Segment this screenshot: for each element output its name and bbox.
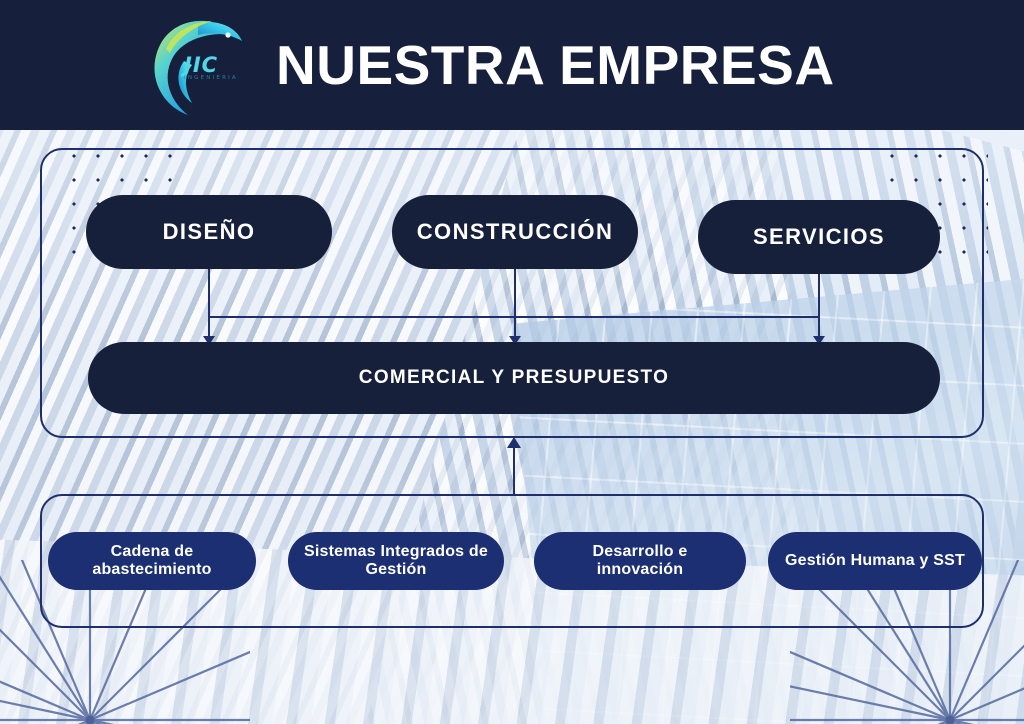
poster-canvas: DISEÑO CONSTRUCCIÓN SERVICIOS COMERCIAL …: [0, 0, 1024, 724]
connector-construccion-down: [514, 269, 516, 317]
jic-fish-logo-icon: JIC INGENIERIA: [140, 5, 260, 125]
node-gestion-humana-sst[interactable]: Gestión Humana y SST: [768, 532, 982, 590]
logo-tagline: INGENIERIA: [184, 75, 238, 81]
node-construccion-label: CONSTRUCCIÓN: [417, 219, 613, 244]
node-servicios[interactable]: SERVICIOS: [698, 200, 940, 274]
node-desarrollo-label: Desarrollo e innovación: [548, 543, 732, 580]
node-desarrollo-innovacion[interactable]: Desarrollo e innovación: [534, 532, 746, 590]
node-diseno[interactable]: DISEÑO: [86, 195, 332, 269]
node-diseno-label: DISEÑO: [163, 219, 256, 244]
connector-servicios-down: [818, 274, 820, 317]
node-construccion[interactable]: CONSTRUCCIÓN: [392, 195, 638, 269]
node-comercial-presupuesto[interactable]: COMERCIAL Y PRESUPUESTO: [88, 342, 940, 414]
page-title: NUESTRA EMPRESA: [276, 33, 835, 97]
connector-up-arrow-icon: [507, 437, 521, 448]
node-cadena-abastecimiento[interactable]: Cadena de abastecimiento: [48, 532, 256, 590]
page-header: JIC INGENIERIA NUESTRA EMPRESA: [0, 0, 1024, 130]
logo-wordmark: JIC: [184, 53, 218, 77]
node-sistemas-integrados[interactable]: Sistemas Integrados de Gestión: [288, 532, 504, 590]
node-cadena-label: Cadena de abastecimiento: [62, 543, 242, 580]
node-comercial-label: COMERCIAL Y PRESUPUESTO: [359, 367, 669, 389]
node-servicios-label: SERVICIOS: [753, 224, 885, 249]
node-sistemas-label: Sistemas Integrados de Gestión: [302, 543, 490, 580]
connector-support-to-core: [513, 448, 515, 494]
connector-diseno-down: [208, 269, 210, 317]
node-gestion-label: Gestión Humana y SST: [785, 552, 965, 570]
